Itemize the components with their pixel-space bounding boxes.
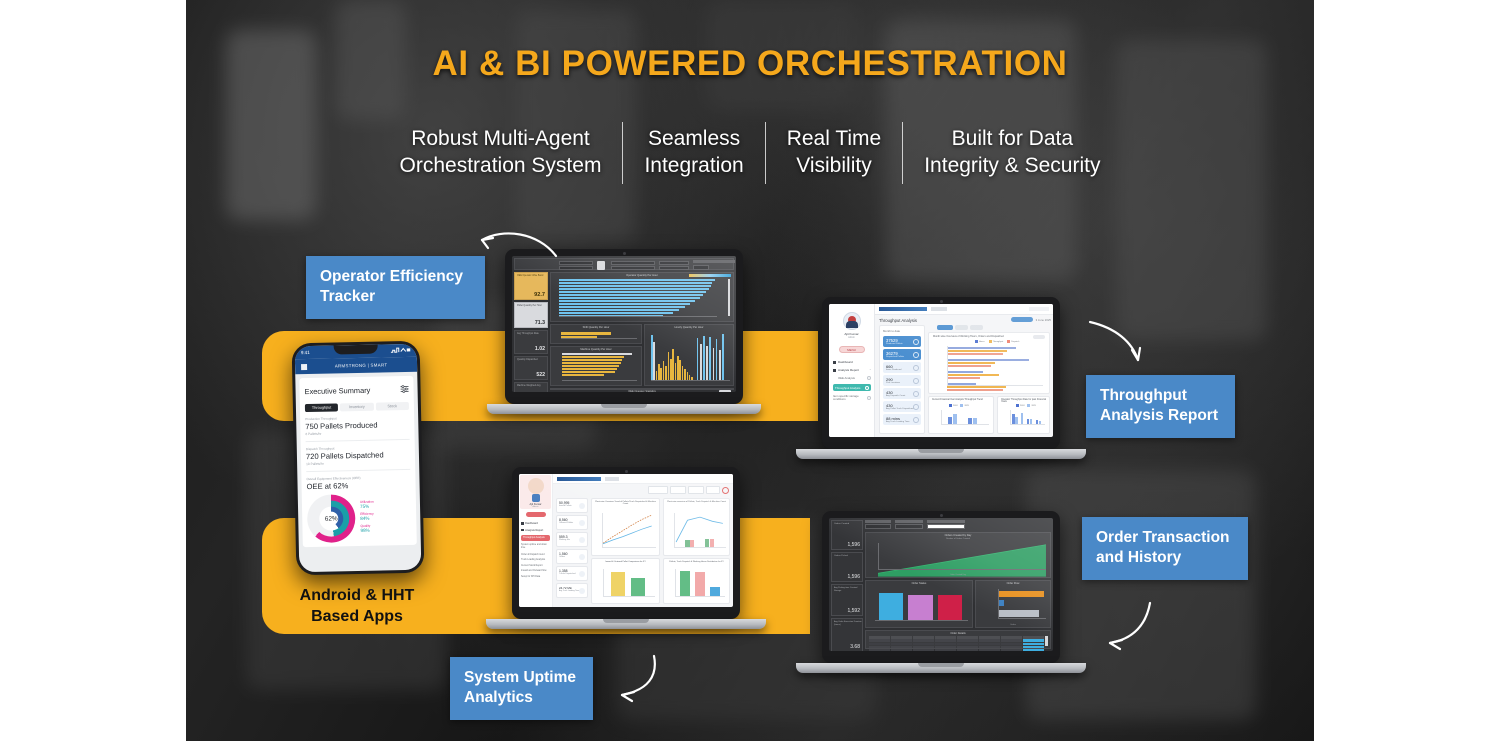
kpi-avg-truck-loading: 88 minsAvg Truck Loading Time (883, 414, 921, 425)
legend-efficiency: Efficiency 84% (360, 511, 411, 521)
laptop-order-transaction: Orders Created 1,596 Orders Picked 1,596… (822, 511, 1060, 663)
chart-order-status: Order Status (865, 580, 973, 628)
sidebar-item-dashboard[interactable]: Dashboard (833, 360, 871, 364)
kpi-orders: 1,560Orders (556, 549, 588, 564)
phone-screen: 9:41 ARMSTRONG | SMART Executive Summary… (295, 344, 422, 573)
laptop-base (486, 619, 766, 629)
dashboard-operator: OEE Operator Wise Band 92.7 Pallet Quant… (512, 256, 736, 392)
screen-title: Executive Summary (304, 385, 370, 395)
tab-daily[interactable] (955, 325, 968, 330)
kpi-working-hrs: 559.3Working Hrs (556, 532, 588, 547)
kpi-produced-pallets: 37529Produced Pallets (883, 336, 921, 347)
status-time: 9:41 (301, 350, 310, 355)
phone-tabs: Throughput Inventory Stock (305, 402, 409, 412)
trackpad-notch (918, 663, 964, 667)
sidebar-item-order-dispatch-trend[interactable]: Order & Dispatch trend (521, 554, 550, 556)
kpi-dispatched-pallets: 36279Dispatched Pallets (883, 349, 921, 360)
kpi-avg-truck-loading: 24.72 MinAvg Truck Loading Time (556, 583, 588, 598)
laptop-screen: Orders Created 1,596 Orders Picked 1,596… (829, 518, 1053, 651)
sidebar-item-kpi-setup[interactable]: Setup for KPI Data (521, 576, 550, 578)
filter-shift[interactable] (706, 486, 720, 494)
filter-country[interactable] (670, 486, 686, 494)
menu-button[interactable]: MENU (839, 346, 865, 353)
sidebar-item-analysis-report[interactable]: Analysis Report (521, 529, 550, 532)
feature-item-2: Seamless Integration (623, 126, 764, 180)
webcam-icon (623, 252, 626, 255)
laptop-base (796, 663, 1086, 673)
avatar (528, 478, 544, 494)
sidebar-item-inward-outward[interactable]: Inward and Outward flow (521, 570, 550, 572)
trackpad-notch (603, 619, 649, 623)
sidebar-item-uptime-downtime[interactable]: System uptime and down time (521, 544, 550, 550)
oee-legend: Utilization 75% Efficiency 84% Quality 9… (360, 499, 412, 536)
chart-shift-quantity: Shift Quantity Per Hour (550, 324, 642, 344)
laptop-base (487, 404, 761, 414)
webcam-icon (625, 470, 628, 473)
oee-donut-chart: 62% (307, 494, 356, 543)
callout-system-uptime[interactable]: System Uptime Analytics (450, 657, 593, 720)
sidebar-item-throughput-analysis[interactable]: Throughput Analysis (833, 384, 871, 391)
oee-center-value: 62% (324, 511, 338, 525)
kpi-inward-pallets: 50,995Inward Pallets (556, 498, 588, 513)
chart-distribution: Pallets, Truck Dispatch & Working Hours … (663, 558, 730, 604)
metric-production-throughput: Production Throughput 750 Pallets Produc… (305, 415, 409, 436)
tab-inventory[interactable]: Inventory (340, 403, 373, 412)
chart-machine-quantity: Machine Quantity Per Hour (550, 346, 642, 386)
laptop-operator-efficiency: OEE Operator Wise Band 92.7 Pallet Quant… (505, 249, 743, 404)
chart-plant-overview-line: Plant wise overview of Pallets, Truck Di… (663, 498, 730, 556)
dashboard-order: Orders Created 1,596 Orders Picked 1,596… (829, 518, 1053, 651)
table-operator-statistics: OEE Operator Statistics (550, 388, 734, 390)
metric-sub: 6 Pallets/hr (305, 430, 409, 436)
feature-item-4: Built for Data Integrity & Security (903, 126, 1121, 180)
laptop-base (796, 449, 1086, 459)
sidebar-item-current-stock[interactable]: Current Stock Report (521, 565, 550, 567)
feature-item-3: Real Time Visibility (766, 126, 903, 180)
laptop-lid: Ajit Kumar Admin MENU Dashboard Analysis… (822, 297, 1060, 449)
sidebar-item-dashboard[interactable]: Dashboard (521, 522, 550, 525)
divider (306, 439, 410, 442)
card-header: Executive Summary (304, 380, 408, 400)
phone-app-bar: ARMSTRONG | SMART (295, 357, 417, 375)
date-pill[interactable] (1011, 317, 1033, 322)
divider (306, 469, 410, 472)
kpi-outward-pallets: 8,560Outward Pallets (556, 515, 588, 530)
oee-headline: OEE at 62% (306, 480, 410, 491)
tab-throughput[interactable]: Throughput (305, 403, 338, 412)
chart-orders-created-by-day: Orders Created by Day Number of Orders C… (865, 532, 1051, 578)
chart-order-flow: Order Flow Orders (975, 580, 1051, 628)
feature-item-1: Robust Multi-Agent Orchestration System (379, 126, 623, 180)
infographic-stage: AI & BI POWERED ORCHESTRATION Robust Mul… (0, 0, 1500, 741)
status-indicators-icon (391, 347, 411, 354)
kpi-avg-pallet-truck: 430Avg Pallet Truck Dispatched (883, 401, 921, 412)
chart-operator-quantity: Operator Quantity Per Hour (550, 272, 734, 322)
line-series (602, 513, 656, 545)
kpi-items-produced: 660Items Produced (883, 362, 921, 373)
filter-sliders-icon[interactable] (400, 380, 408, 398)
tab-stock[interactable]: Stock (376, 402, 409, 411)
callout-throughput-analysis[interactable]: Throughput Analysis Report (1086, 375, 1235, 438)
menu-button[interactable] (526, 512, 546, 517)
webcam-icon (940, 514, 943, 517)
feature-strip: Robust Multi-Agent Orchestration System … (300, 120, 1200, 186)
chart-plant-trend-line: Plant wise Overview Trend of Pallets/Tru… (591, 498, 660, 556)
dashboard-uptime: Ajit Kumar Admin Dashboard Analysis Repo… (519, 474, 733, 607)
dashboard-throughput: Ajit Kumar Admin MENU Dashboard Analysis… (829, 304, 1053, 437)
reset-icon[interactable] (722, 487, 729, 494)
sidebar-item-truck-loading[interactable]: Truck Loading Analytics (521, 559, 550, 561)
callout-operator-efficiency[interactable]: Operator Efficiency Tracker (306, 256, 485, 319)
hamburger-menu-icon[interactable] (301, 364, 307, 370)
metric-oee: Overall Equipment Effectiveness (OEE) OE… (306, 475, 410, 491)
filter-financial-year[interactable] (648, 486, 668, 494)
laptop-screen: OEE Operator Wise Band 92.7 Pallet Quant… (512, 256, 736, 392)
chart-toggle[interactable] (1033, 335, 1045, 339)
sidebar-item-analysis-report[interactable]: Analysis Report ^ (833, 368, 871, 372)
android-hht-caption: Android & HHT Based Apps (262, 586, 452, 628)
laptop-lid: Ajit Kumar Admin Dashboard Analysis Repo… (512, 467, 740, 619)
table-order-details: Order Details (865, 630, 1051, 649)
tab-monthly[interactable] (937, 325, 953, 330)
oee-chart-wrap: 62% Utilization 75% Efficiency 84% Quali… (307, 493, 412, 543)
tab-shiftly[interactable] (970, 325, 983, 330)
laptop-lid: Orders Created 1,596 Orders Picked 1,596… (822, 511, 1060, 663)
sidebar-item-storage-conditions[interactable]: Item specific storage conditions (833, 395, 871, 402)
laptop-screen: Ajit Kumar Admin Dashboard Analysis Repo… (519, 474, 733, 607)
kpi-avg-dispatch-count: 430Avg Dispatch Count (883, 388, 921, 399)
avatar (843, 312, 861, 330)
kpi-trucks-dispatched: 1,358Trucks Dispatched (556, 566, 588, 581)
page-title: AI & BI POWERED ORCHESTRATION (186, 44, 1314, 84)
webcam-icon (940, 300, 943, 303)
chart-current-fy-throughput: Current Financial Year Analysis Throughp… (928, 396, 994, 434)
brand-logo: ARMSTRONG | SMART (311, 362, 411, 369)
trackpad-notch (601, 404, 647, 408)
legend-utilization: Utilization 75% (360, 499, 411, 509)
sidebar-item-throughput-analysis[interactable]: Throughput Analysis (521, 535, 550, 541)
chart-inward-outward-comparison: Inward & Outward Pallet Comparison for F… (591, 558, 660, 604)
laptop-system-uptime: Ajit Kumar Admin Dashboard Analysis Repo… (512, 467, 740, 619)
phone-mockup: 9:41 ARMSTRONG | SMART Executive Summary… (292, 341, 425, 576)
chart-hourly-quantity: Hourly Quantity Per Hour (644, 324, 734, 386)
sidebar-item-oee-analysis[interactable]: OEE Analysis (838, 376, 871, 380)
legend-quality: Quality 98% (360, 523, 411, 533)
laptop-throughput-analysis: Ajit Kumar Admin MENU Dashboard Analysis… (822, 297, 1060, 449)
phone-notch (334, 345, 378, 355)
filter-plant[interactable] (688, 486, 704, 494)
executive-summary-card: Executive Summary Throughput Inventory S… (299, 376, 417, 547)
laptop-lid: OEE Operator Wise Band 92.7 Pallet Quant… (505, 249, 743, 404)
callout-order-transaction[interactable]: Order Transaction and History (1082, 517, 1248, 580)
trackpad-notch (918, 449, 964, 453)
chart-month-overview: Month wise Overview of Working Hours, Or… (928, 332, 1050, 394)
chart-operator-throughput-rate: Operator Throughput Rate for past Financ… (997, 396, 1050, 434)
laptop-screen: Ajit Kumar Admin MENU Dashboard Analysis… (829, 304, 1053, 437)
kpi-pick-locations: 290Pick Locations (883, 375, 921, 386)
metric-dispatch-throughput: Dispatch Throughput 720 Pallets Dispatch… (306, 445, 410, 466)
area-series (878, 543, 1046, 577)
metric-sub: 10 Pallets/hr (306, 460, 410, 466)
